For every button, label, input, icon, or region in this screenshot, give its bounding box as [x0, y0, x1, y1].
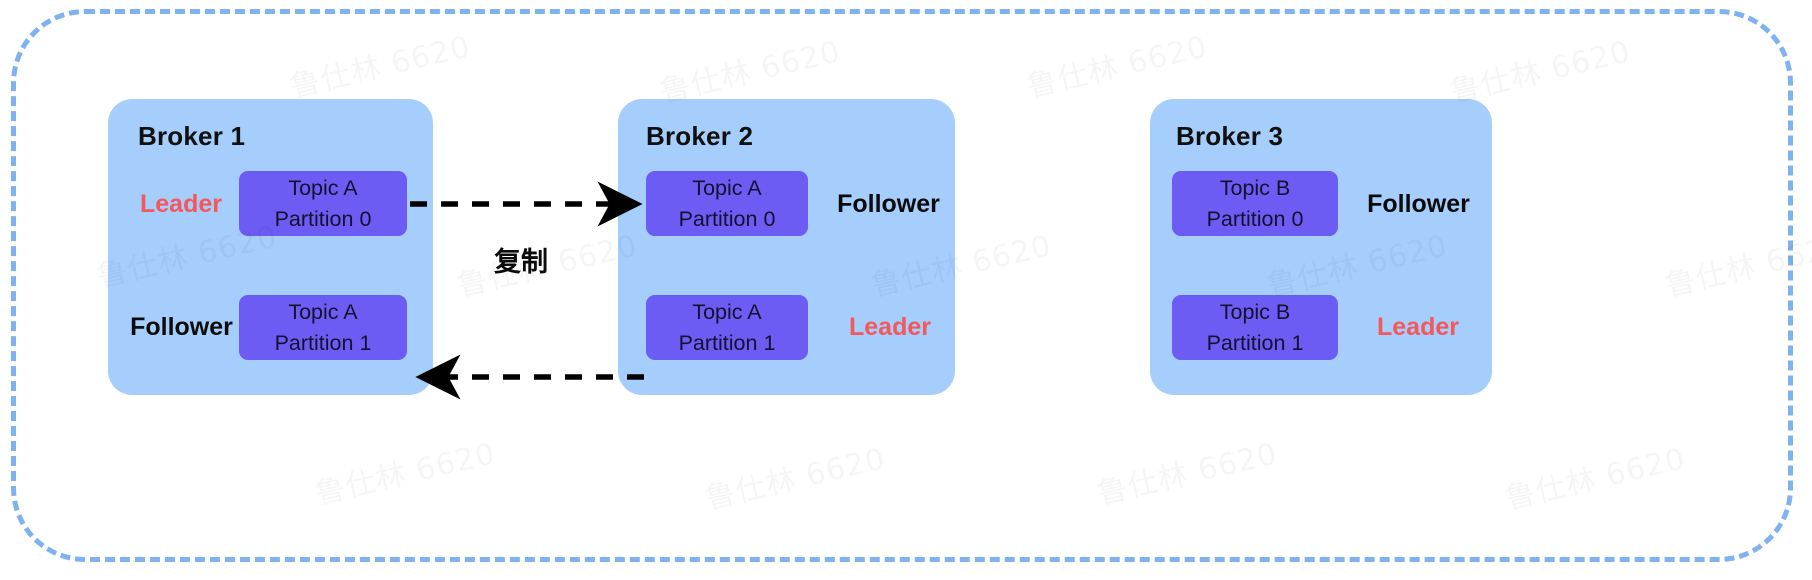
- partition-chip-broker3-topicB-p0[interactable]: Topic B Partition 0: [1172, 171, 1338, 236]
- broker-title-3: Broker 3: [1176, 121, 1283, 152]
- partition-index-label: Partition 1: [275, 328, 372, 359]
- partition-index-label: Partition 0: [1207, 204, 1304, 235]
- broker-title-1: Broker 1: [138, 121, 245, 152]
- partition-topic-label: Topic A: [692, 297, 761, 328]
- role-label-broker1-partition0: Leader: [129, 190, 233, 219]
- partition-chip-broker1-topicA-p1[interactable]: Topic A Partition 1: [239, 295, 407, 360]
- partition-topic-label: Topic B: [1220, 173, 1291, 204]
- partition-chip-broker1-topicA-p0[interactable]: Topic A Partition 0: [239, 171, 407, 236]
- role-label-broker3-partition1: Leader: [1363, 313, 1473, 342]
- role-label-broker2-partition1: Leader: [835, 313, 945, 342]
- partition-index-label: Partition 0: [275, 204, 372, 235]
- diagram-canvas: Broker 1 Leader Topic A Partition 0 Foll…: [0, 0, 1812, 580]
- partition-chip-broker3-topicB-p1[interactable]: Topic B Partition 1: [1172, 295, 1338, 360]
- partition-index-label: Partition 0: [679, 204, 776, 235]
- replication-label: 复制: [494, 240, 548, 279]
- partition-index-label: Partition 1: [679, 328, 776, 359]
- partition-index-label: Partition 1: [1207, 328, 1304, 359]
- partition-chip-broker2-topicA-p0[interactable]: Topic A Partition 0: [646, 171, 808, 236]
- partition-chip-broker2-topicA-p1[interactable]: Topic A Partition 1: [646, 295, 808, 360]
- partition-topic-label: Topic A: [692, 173, 761, 204]
- partition-topic-label: Topic A: [288, 173, 357, 204]
- partition-topic-label: Topic B: [1220, 297, 1291, 328]
- partition-topic-label: Topic A: [288, 297, 357, 328]
- broker-title-2: Broker 2: [646, 121, 753, 152]
- role-label-broker1-partition1: Follower: [115, 313, 248, 342]
- role-label-broker2-partition0: Follower: [822, 190, 955, 219]
- role-label-broker3-partition0: Follower: [1352, 190, 1485, 219]
